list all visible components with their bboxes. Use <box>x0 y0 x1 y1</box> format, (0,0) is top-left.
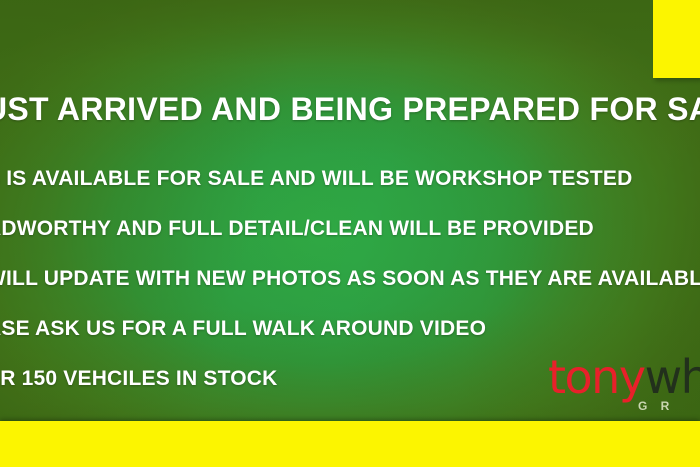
banner-line-stock-count: ER 150 VEHCILES IN STOCK <box>0 367 278 391</box>
banner-line-roadworthy: ADWORTHY AND FULL DETAIL/CLEAN WILL BE P… <box>0 217 594 241</box>
dealer-logo: tonywhi G R <box>548 352 700 420</box>
banner-line-walkaround-video: ASE ASK US FOR A FULL WALK AROUND VIDEO <box>0 317 486 341</box>
logo-wordmark: tonywhi <box>548 352 700 402</box>
banner-line-photos: WILL UPDATE WITH NEW PHOTOS AS SOON AS T… <box>0 267 700 291</box>
yellow-footer-bar <box>0 421 700 467</box>
banner-line-availability: S IS AVAILABLE FOR SALE AND WILL BE WORK… <box>0 167 632 191</box>
logo-word-white: whi <box>645 352 700 404</box>
logo-word-tony: tony <box>548 352 645 404</box>
banner-image: UST ARRIVED AND BEING PREPARED FOR SA S … <box>0 0 700 467</box>
logo-subtitle-group: G R <box>638 399 674 413</box>
banner-headline: UST ARRIVED AND BEING PREPARED FOR SA <box>0 91 700 128</box>
